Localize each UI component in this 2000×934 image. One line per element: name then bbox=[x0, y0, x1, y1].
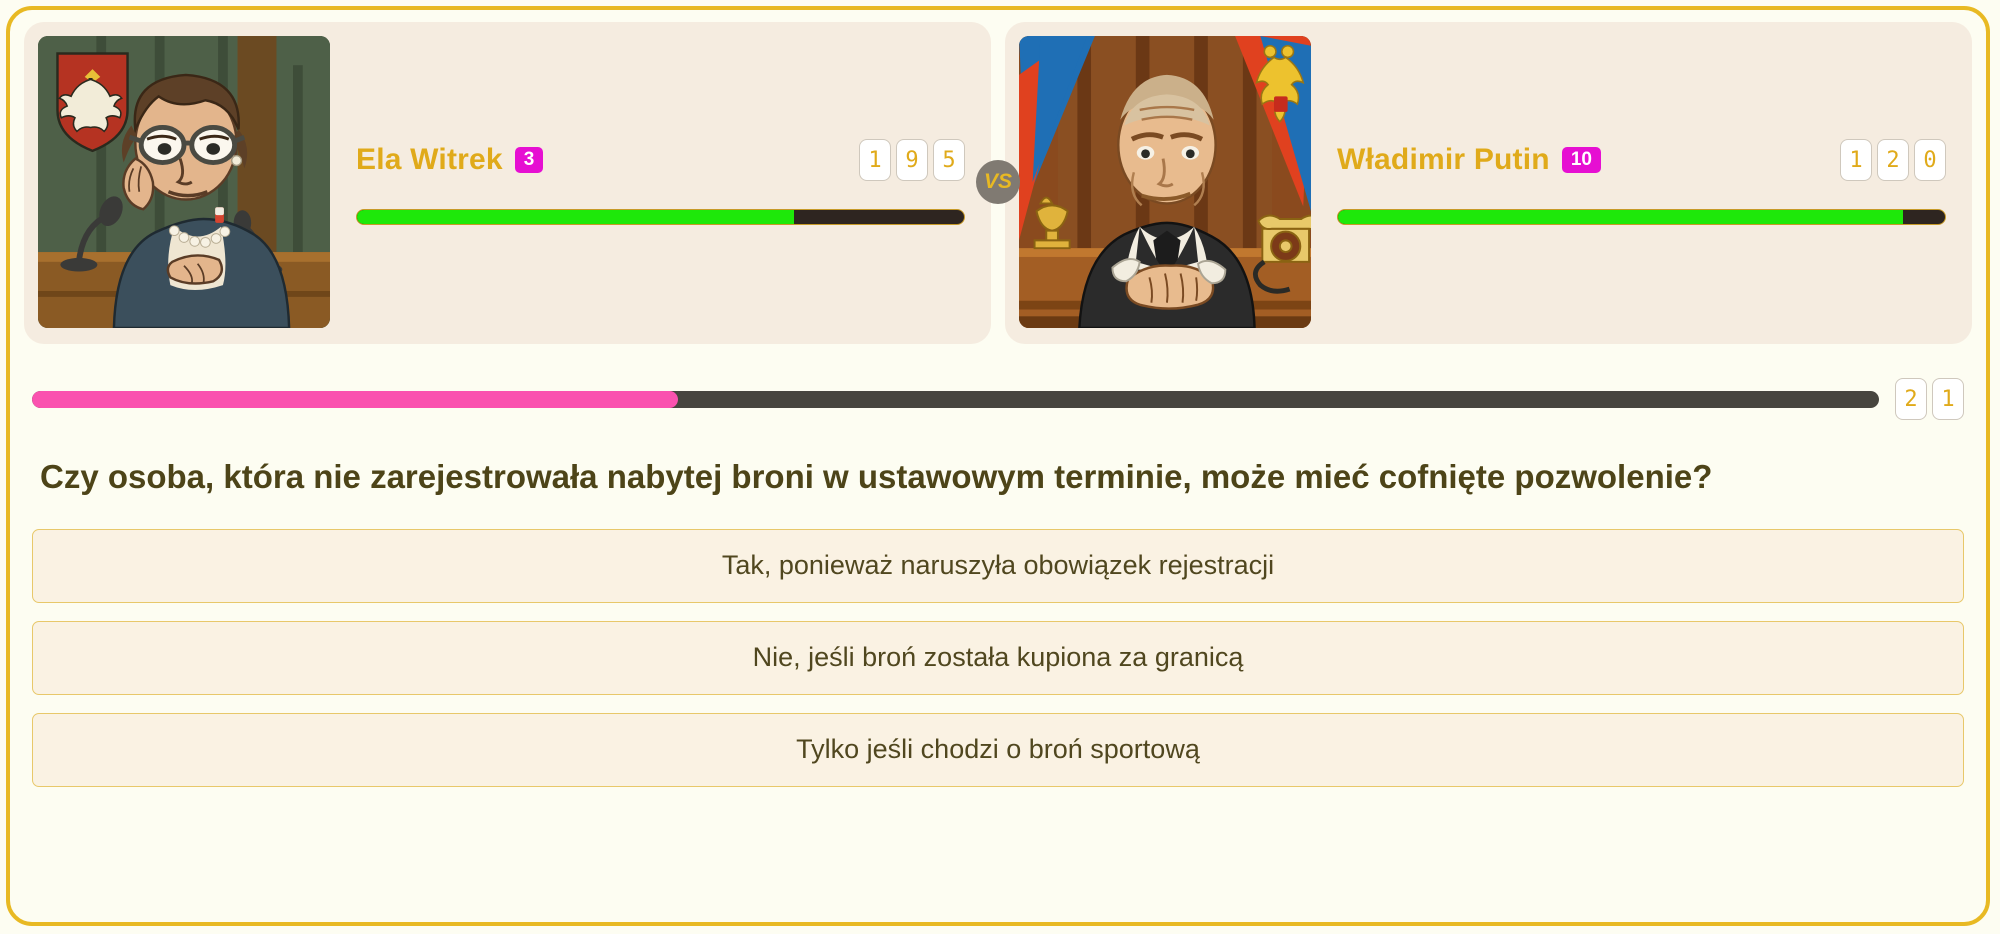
player-health-bar-left bbox=[356, 209, 965, 225]
player-card-left[interactable]: Ela Witrek 3 1 9 5 bbox=[24, 22, 991, 344]
quiz-app-frame: Ela Witrek 3 1 9 5 bbox=[6, 6, 1990, 926]
player-health-bar-right bbox=[1337, 209, 1946, 225]
player-name-row-left: Ela Witrek 3 1 9 5 bbox=[356, 139, 965, 181]
player-level-badge-right: 10 bbox=[1562, 147, 1601, 174]
player-score-left: 1 9 5 bbox=[859, 139, 965, 181]
player-score-right: 1 2 0 bbox=[1840, 139, 1946, 181]
score-digit: 0 bbox=[1914, 139, 1946, 181]
answer-option-3[interactable]: Tylko jeśli chodzi o broń sportową bbox=[32, 713, 1964, 787]
player-identity-left: Ela Witrek 3 bbox=[356, 143, 543, 177]
timer-digit: 2 bbox=[1895, 378, 1927, 420]
question-text: Czy osoba, która nie zarejestrowała naby… bbox=[40, 456, 1956, 499]
answer-option-1[interactable]: Tak, ponieważ naruszyła obowiązek rejest… bbox=[32, 529, 1964, 603]
score-digit: 2 bbox=[1877, 139, 1909, 181]
player-level-badge-left: 3 bbox=[515, 147, 544, 174]
vs-badge: VS bbox=[976, 160, 1020, 204]
timer-progress-fill bbox=[32, 391, 678, 408]
timer-row: 2 1 bbox=[32, 378, 1964, 420]
ela-witrek-avatar bbox=[38, 36, 330, 328]
answer-option-2[interactable]: Nie, jeśli broń została kupiona za grani… bbox=[32, 621, 1964, 695]
player-name-row-right: Władimir Putin 10 1 2 0 bbox=[1337, 139, 1946, 181]
player-card-right[interactable]: Władimir Putin 10 1 2 0 bbox=[1005, 22, 1972, 344]
player-info-left: Ela Witrek 3 1 9 5 bbox=[330, 36, 977, 328]
timer-progress-bar bbox=[32, 391, 1879, 408]
score-digit: 9 bbox=[896, 139, 928, 181]
score-digit: 1 bbox=[1840, 139, 1872, 181]
player-identity-right: Władimir Putin 10 bbox=[1337, 143, 1601, 177]
score-digit: 1 bbox=[859, 139, 891, 181]
player-health-fill-right bbox=[1338, 210, 1903, 224]
timer-digit: 1 bbox=[1932, 378, 1964, 420]
timer-counter: 2 1 bbox=[1895, 378, 1964, 420]
player-info-right: Władimir Putin 10 1 2 0 bbox=[1311, 36, 1958, 328]
player-health-fill-left bbox=[357, 210, 794, 224]
player-name-left: Ela Witrek bbox=[356, 143, 503, 177]
player-name-right: Władimir Putin bbox=[1337, 143, 1550, 177]
score-digit: 5 bbox=[933, 139, 965, 181]
answer-list: Tak, ponieważ naruszyła obowiązek rejest… bbox=[32, 529, 1964, 787]
versus-header: Ela Witrek 3 1 9 5 bbox=[24, 22, 1972, 344]
wladimir-putin-avatar bbox=[1019, 36, 1311, 328]
